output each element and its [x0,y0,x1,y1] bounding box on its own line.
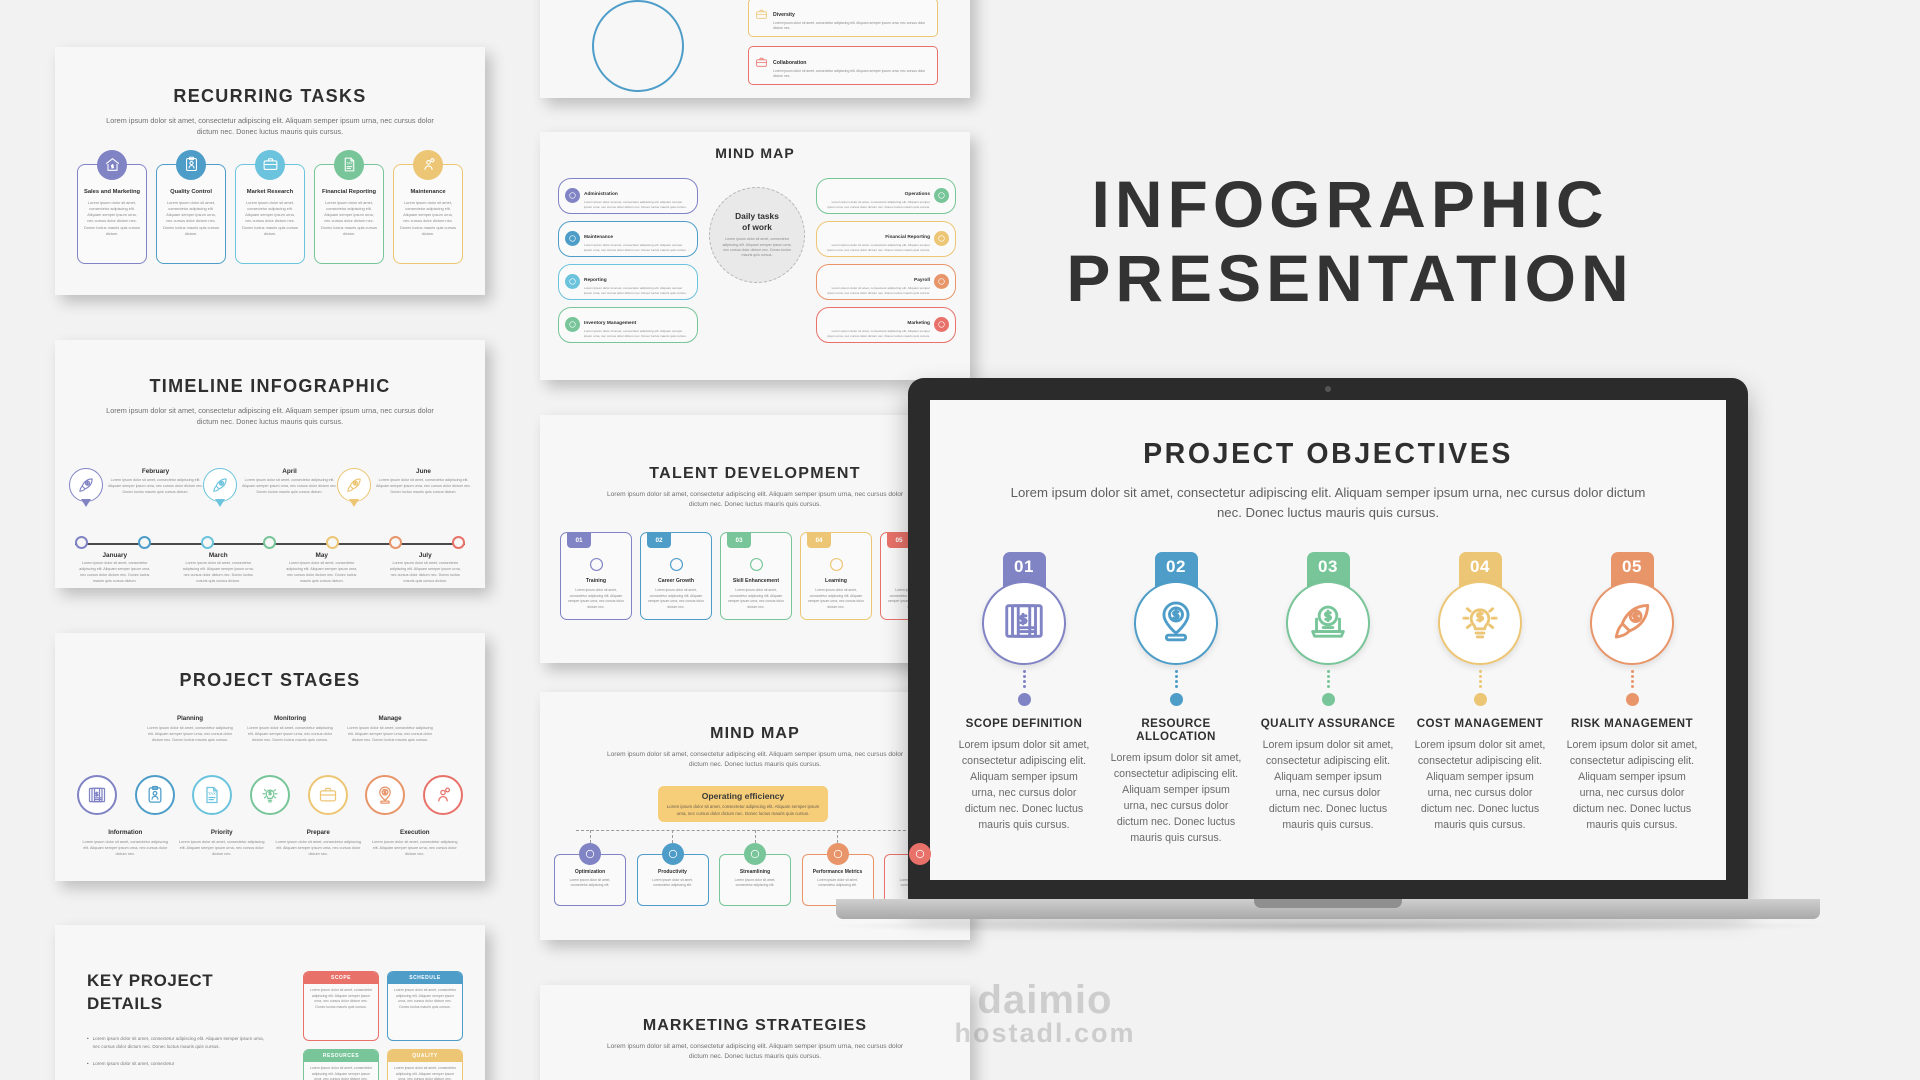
mind-map-node-body: Lorem ipsum dolor sit amet, consectetur … [823,329,930,339]
laptop-icon [801,555,871,574]
slide-thumbnail-recurring-tasks[interactable]: RECURRING TASKS Lorem ipsum dolor sit am… [55,47,485,295]
key-detail-card-body: Lorem ipsum dolor sit amet, consectetur … [304,984,378,1014]
mind-map-2-title: MIND MAP [540,725,970,743]
timeline-month-label: May [316,552,328,559]
mind-map-2-node[interactable]: Optimization Lorem ipsum dolor sit amet,… [554,830,626,906]
talent-card-number: 03 [727,532,751,548]
project-stage-label: Prepare [275,829,362,836]
laptop-shadow [828,918,1828,934]
project-stages-top-labels: PlanningLorem ipsum dolor sit amet, cons… [140,715,440,743]
laptop-mockup: PROJECT OBJECTIVES Lorem ipsum dolor sit… [908,378,1748,938]
objective-column-01[interactable]: 01SCOPE DEFINITIONLorem ipsum dolor sit … [948,552,1100,846]
mind-map-node-label: Maintenance [584,235,613,240]
megaphone-icon [934,317,949,332]
objective-icon-circle-01 [982,581,1066,665]
project-stages-bottom-labels: InformationLorem ipsum dolor sit amet, c… [77,829,463,857]
project-stage-body: Lorem ipsum dolor sit amet, consectetur … [144,725,236,743]
mind-map-2-connector [672,830,673,843]
talent-card-number: 04 [807,532,831,548]
mind-map-2-node-label: Performance Metrics [803,869,873,875]
laptop-trackpad-notch [1254,899,1402,908]
objective-column-04[interactable]: 04COST MANAGEMENTLorem ipsum dolor sit a… [1404,552,1556,846]
settings-person-icon [413,150,443,180]
recurring-task-card[interactable]: Market ResearchLorem ipsum dolor sit ame… [235,164,305,264]
main-slide-columns: 01SCOPE DEFINITIONLorem ipsum dolor sit … [930,552,1726,846]
talent-card[interactable]: 01TrainingLorem ipsum dolor sit amet, co… [560,532,632,620]
mm1-center-title: Daily tasks of work [735,211,779,233]
recurring-task-card[interactable]: Quality ControlLorem ipsum dolor sit ame… [156,164,226,264]
talent-development-subtitle: Lorem ipsum dolor sit amet, consectetur … [605,490,905,510]
top-partial-item-label: Collaboration [773,60,806,66]
board-icon [561,555,631,574]
mind-map-node-label: Marketing [907,321,930,326]
mind-map-node[interactable]: Inventory Management Lorem ipsum dolor s… [558,307,698,343]
objective-column-03[interactable]: 03QUALITY ASSURANCELorem ipsum dolor sit… [1252,552,1404,846]
recurring-task-card-label: Market Research [247,189,293,195]
skill-icon [721,555,791,574]
timeline-month-body: Lorem ipsum dolor sit amet, consectetur … [242,478,337,496]
headline-line-2: PRESENTATION [1040,242,1660,316]
mind-map-node-body: Lorem ipsum dolor sit amet, consectetur … [823,286,930,296]
project-stage-top-item[interactable]: MonitoringLorem ipsum dolor sit amet, co… [240,715,340,743]
recurring-tasks-subtitle: Lorem ipsum dolor sit amet, consectetur … [105,115,435,138]
project-stage-icon-circle [250,775,290,815]
objective-column-05[interactable]: 05RISK MANAGEMENTLorem ipsum dolor sit a… [1556,552,1708,846]
project-stage-label: Monitoring [244,715,336,722]
timeline-month-body: Lorem ipsum dolor sit amet, consectetur … [376,478,471,496]
recurring-task-card[interactable]: TAX Financial ReportingLorem ipsum dolor… [314,164,384,264]
objective-body-02: Lorem ipsum dolor sit amet, consectetur … [1110,751,1242,846]
project-stage-bottom-item[interactable]: ExecutionLorem ipsum dolor sit amet, con… [367,829,464,857]
recurring-task-card-label: Financial Reporting [322,189,376,195]
talent-card-body: Lorem ipsum dolor sit amet, consectetur … [567,588,625,610]
timeline-axis-node [201,536,214,549]
talent-development-card-row: 01TrainingLorem ipsum dolor sit amet, co… [540,532,970,620]
timeline-month-label: February [108,468,203,475]
objective-connector-dots-02 [1175,665,1178,693]
kpd-title-line-2: DETAILS [87,993,213,1016]
svg-text:TAX: TAX [346,162,353,166]
laptop-dollar-icon [1305,598,1351,649]
rocket-dollar-icon [1609,598,1655,649]
timeline-month-body: Lorem ipsum dolor sit amet, consectetur … [78,561,152,585]
talent-card-label: Career Growth [641,578,711,584]
presentation-mockup-canvas: INFOGRAPHIC PRESENTATION RECURRING TASKS… [0,0,1920,1080]
recurring-task-card-body: Lorem ipsum dolor sit amet, consectetur … [400,200,456,238]
timeline-axis-nodes [75,536,465,549]
objective-title-02: RESOURCE ALLOCATION [1100,717,1252,743]
laptop-lid: PROJECT OBJECTIVES Lorem ipsum dolor sit… [908,378,1748,902]
shield-people-icon [755,56,768,74]
timeline-axis-node [75,536,88,549]
key-detail-card-header: SCOPE [304,972,378,984]
recurring-task-card-body: Lorem ipsum dolor sit amet, consectetur … [84,200,140,238]
objective-bullet-dot-05 [1626,693,1639,706]
mind-map-2-node-label: Streamlining [720,869,790,875]
objective-column-02[interactable]: 02RESOURCE ALLOCATIONLorem ipsum dolor s… [1100,552,1252,846]
mind-map-2-node[interactable]: Performance Metrics Lorem ipsum dolor si… [802,830,874,906]
money-icon [934,274,949,289]
timeline-month-body: Lorem ipsum dolor sit amet, consectetur … [388,561,462,585]
key-detail-card[interactable]: RESOURCESLorem ipsum dolor sit amet, con… [303,1049,379,1080]
objective-connector-dots-01 [1023,665,1026,693]
clipboard-person-icon [176,150,206,180]
mind-map-2-node-row: Optimization Lorem ipsum dolor sit amet,… [554,830,956,906]
objective-bullet-dot-04 [1474,693,1487,706]
mm1-center-title-l2: of work [742,222,772,232]
timeline-subtitle: Lorem ipsum dolor sit amet, consectetur … [105,405,435,428]
objective-bullet-dot-02 [1170,693,1183,706]
recurring-task-card[interactable]: Sales and MarketingLorem ipsum dolor sit… [77,164,147,264]
timeline-axis-node [263,536,276,549]
recurring-tasks-title: RECURRING TASKS [55,86,485,107]
top-partial-item-body: Lorem ipsum dolor sit amet, consectetur … [773,21,931,32]
analysis-icon [909,843,931,865]
mind-map-node[interactable]: Administration Lorem ipsum dolor sit ame… [558,178,698,214]
timeline-axis-node [452,536,465,549]
mind-map-node-body: Lorem ipsum dolor sit amet, consectetur … [823,200,930,210]
objective-body-03: Lorem ipsum dolor sit amet, consectetur … [1262,738,1394,833]
timeline-item-top[interactable]: April Lorem ipsum dolor sit amet, consec… [203,468,337,502]
grid-icon [579,843,601,865]
mind-map-node-body: Lorem ipsum dolor sit amet, consectetur … [584,200,691,210]
project-stage-body: Lorem ipsum dolor sit amet, consectetur … [244,725,336,743]
mind-map-node-label: Administration [584,192,618,197]
id-card-icon [565,188,580,203]
mind-map-2-node-body: Lorem ipsum dolor sit amet, consectetur … [726,878,784,889]
mind-map-2-node-body: Lorem ipsum dolor sit amet, consectetur … [644,878,702,889]
timeline-item-bottom[interactable]: MarchLorem ipsum dolor sit amet, consect… [167,552,271,588]
mind-map-node-body: Lorem ipsum dolor sit amet, consectetur … [584,286,691,296]
gear-icon [934,188,949,203]
mind-map-2-node[interactable]: Productivity Lorem ipsum dolor sit amet,… [637,830,709,906]
mind-map-2-node-body: Lorem ipsum dolor sit amet, consectetur … [809,878,867,889]
recurring-task-card-label: Quality Control [170,189,212,195]
objective-icon-circle-04 [1438,581,1522,665]
timeline-axis-node [138,536,151,549]
recurring-task-card[interactable]: MaintenanceLorem ipsum dolor sit amet, c… [393,164,463,264]
talent-card[interactable]: 04LearningLorem ipsum dolor sit amet, co… [800,532,872,620]
project-stage-body: Lorem ipsum dolor sit amet, consectetur … [372,839,459,857]
project-stage-label: Execution [372,829,459,836]
key-detail-card-header: SCHEDULE [388,972,462,984]
key-detail-card-body: Lorem ipsum dolor sit amet, consectetur … [388,1062,462,1080]
timeline-month-body: Lorem ipsum dolor sit amet, consectetur … [181,561,255,585]
recurring-task-card-body: Lorem ipsum dolor sit amet, consectetur … [163,200,219,238]
objective-body-04: Lorem ipsum dolor sit amet, consectetur … [1414,738,1546,833]
growth-icon [641,555,711,574]
mm2-root-body: Lorem ipsum dolor sit amet, consectetur … [666,804,820,817]
mind-map-node-label: Inventory Management [584,321,636,326]
mind-map-node[interactable]: Maintenance Lorem ipsum dolor sit amet, … [558,221,698,257]
project-stage-top-item[interactable]: ManageLorem ipsum dolor sit amet, consec… [340,715,440,743]
project-stage-bottom-item[interactable]: PrepareLorem ipsum dolor sit amet, conse… [270,829,367,857]
top-partial-item[interactable]: CollaborationLorem ipsum dolor sit amet,… [748,46,938,85]
key-detail-bullet: •Lorem ipsum dolor sit amet, consectetur [87,1060,267,1068]
project-stage-icon-circle [308,775,348,815]
project-stages-icon-row: TAX [77,775,463,815]
top-partial-circle [592,0,684,92]
project-stage-body: Lorem ipsum dolor sit amet, consectetur … [82,839,169,857]
timeline-month-label: March [209,552,228,559]
boxes-icon [565,317,580,332]
timeline-item-bottom[interactable]: MayLorem ipsum dolor sit amet, consectet… [270,552,374,588]
presenter-icon [827,843,849,865]
tax-document-icon: TAX [334,150,364,180]
timeline-title: TIMELINE INFOGRAPHIC [55,376,485,397]
mind-map-1-right-items: Operations Lorem ipsum dolor sit amet, c… [816,178,956,350]
talent-development-title: TALENT DEVELOPMENT [540,465,970,483]
project-stage-label: Manage [344,715,436,722]
house-dollar-icon [97,150,127,180]
objective-bullet-dot-01 [1018,693,1031,706]
recurring-task-card-label: Sales and Marketing [84,189,140,195]
mm1-center-title-l1: Daily tasks [735,211,779,221]
mind-map-2-node-label: Optimization [555,869,625,875]
project-stage-body: Lorem ipsum dolor sit amet, consectetur … [344,725,436,743]
slide-thumbnail-timeline-infographic[interactable]: TIMELINE INFOGRAPHIC Lorem ipsum dolor s… [55,340,485,588]
mind-map-2-connector [755,830,756,843]
objective-connector-dots-04 [1479,665,1482,693]
mm2-root-label: Operating efficiency [666,791,820,801]
chart-icon [934,231,949,246]
project-stage-icon-circle [423,775,463,815]
laptop-report-icon [565,274,580,289]
slide-thumbnail-marketing-strategies[interactable]: MARKETING STRATEGIES Lorem ipsum dolor s… [540,985,970,1080]
talent-card-label: Skill Enhancement [721,578,791,584]
mind-map-node-body: Lorem ipsum dolor sit amet, consectetur … [584,329,691,339]
talent-card-number: 01 [567,532,591,548]
mm1-center-body: Lorem ipsum dolor sit amet, consectetur … [720,237,794,259]
objective-body-05: Lorem ipsum dolor sit amet, consectetur … [1566,738,1698,833]
project-stage-bottom-item[interactable]: InformationLorem ipsum dolor sit amet, c… [77,829,174,857]
mind-map-node-body: Lorem ipsum dolor sit amet, consectetur … [823,243,930,253]
mind-map-node-label: Operations [905,192,930,197]
laptop-camera-icon [1325,386,1331,392]
devices-icon [744,843,766,865]
documents-dollar-icon [1001,598,1047,649]
briefcase-icon [255,150,285,180]
slide-thumbnail-mind-map-1[interactable]: MIND MAP Daily tasks of work Lorem ipsum… [540,132,970,380]
page-title: INFOGRAPHIC PRESENTATION [1040,168,1660,316]
slide-thumbnail-key-project-details[interactable]: KEY PROJECT DETAILS •Lorem ipsum dolor s… [55,925,485,1080]
key-detail-card-body: Lorem ipsum dolor sit amet, consectetur … [304,1062,378,1080]
timeline-item-top[interactable]: February Lorem ipsum dolor sit amet, con… [69,468,203,502]
talent-card[interactable]: 02Career GrowthLorem ipsum dolor sit ame… [640,532,712,620]
timeline-axis-node [389,536,402,549]
timeline-item-bottom[interactable]: JulyLorem ipsum dolor sit amet, consecte… [374,552,478,588]
timeline-axis-node [326,536,339,549]
talent-card-body: Lorem ipsum dolor sit amet, consectetur … [727,588,785,610]
timeline-month-label: April [242,468,337,475]
talent-card-label: Learning [801,578,871,584]
mind-map-node[interactable]: Financial Reporting Lorem ipsum dolor si… [816,221,956,257]
recurring-task-card-body: Lorem ipsum dolor sit amet, consectetur … [242,200,298,238]
objective-title-05: RISK MANAGEMENT [1571,717,1693,730]
worker-icon [565,231,580,246]
recurring-tasks-card-row: Sales and MarketingLorem ipsum dolor sit… [55,164,485,264]
objective-connector-dots-03 [1327,665,1330,693]
recurring-task-card-body: Lorem ipsum dolor sit amet, consectetur … [321,200,377,238]
key-detail-card[interactable]: SCOPELorem ipsum dolor sit amet, consect… [303,971,379,1041]
kpd-title-line-1: KEY PROJECT [87,970,213,993]
key-project-details-title: KEY PROJECT DETAILS [87,970,213,1016]
main-slide-subtitle: Lorem ipsum dolor sit amet, consectetur … [1008,483,1648,522]
objective-title-04: COST MANAGEMENT [1417,717,1544,730]
timeline-item-bottom[interactable]: JanuaryLorem ipsum dolor sit amet, conse… [63,552,167,588]
timeline-pin-icon [69,468,103,502]
timeline-pin-icon [203,468,237,502]
top-partial-item[interactable]: DiversityLorem ipsum dolor sit amet, con… [748,0,938,37]
slide-thumbnail-talent-development[interactable]: TALENT DEVELOPMENT Lorem ipsum dolor sit… [540,415,970,663]
objective-title-01: SCOPE DEFINITION [966,717,1083,730]
bullet-dot-icon: • [87,1035,89,1051]
objective-title-03: QUALITY ASSURANCE [1261,717,1396,730]
project-stage-label: Information [82,829,169,836]
talent-card-body: Lorem ipsum dolor sit amet, consectetur … [807,588,865,610]
timeline-bottom-row: JanuaryLorem ipsum dolor sit amet, conse… [63,552,477,588]
mind-map-node[interactable]: Reporting Lorem ipsum dolor sit amet, co… [558,264,698,300]
mind-map-node[interactable]: Operations Lorem ipsum dolor sit amet, c… [816,178,956,214]
project-stages-title: PROJECT STAGES [55,670,485,691]
talent-card-body: Lorem ipsum dolor sit amet, consectetur … [647,588,705,610]
location-pin-dollar-icon [1153,598,1199,649]
mind-map-2-node[interactable]: Streamlining Lorem ipsum dolor sit amet,… [719,830,791,906]
timeline-month-label: January [102,552,127,559]
team-icon [662,843,684,865]
mind-map-node-label: Financial Reporting [885,235,930,240]
timeline-item-top[interactable]: June Lorem ipsum dolor sit amet, consect… [337,468,471,502]
key-detail-bullet: •Lorem ipsum dolor sit amet, consectetur… [87,1035,267,1051]
talent-card-number: 02 [647,532,671,548]
project-stage-bottom-item[interactable]: PriorityLorem ipsum dolor sit amet, cons… [174,829,271,857]
mind-map-2-root-node[interactable]: Operating efficiency Lorem ipsum dolor s… [658,786,828,822]
project-stage-top-item[interactable]: PlanningLorem ipsum dolor sit amet, cons… [140,715,240,743]
timeline-month-body: Lorem ipsum dolor sit amet, consectetur … [108,478,203,496]
mind-map-node[interactable]: Payroll Lorem ipsum dolor sit amet, cons… [816,264,956,300]
top-partial-item-label: Diversity [773,12,795,18]
objective-icon-circle-05 [1590,581,1674,665]
timeline-month-label: June [376,468,471,475]
key-detail-card-body: Lorem ipsum dolor sit amet, consectetur … [388,984,462,1014]
mind-map-node[interactable]: Marketing Lorem ipsum dolor sit amet, co… [816,307,956,343]
main-slide-title: PROJECT OBJECTIVES [930,438,1726,471]
mind-map-2-connector [590,830,591,843]
top-partial-item-body: Lorem ipsum dolor sit amet, consectetur … [773,69,931,80]
mind-map-2-node-label: Productivity [638,869,708,875]
mind-map-node-label: Reporting [584,278,607,283]
project-stage-body: Lorem ipsum dolor sit amet, consectetur … [275,839,362,857]
lightbulb-dollar-icon [1457,598,1503,649]
objective-body-01: Lorem ipsum dolor sit amet, consectetur … [958,738,1090,833]
key-detail-card[interactable]: QUALITYLorem ipsum dolor sit amet, conse… [387,1049,463,1080]
mind-map-node-label: Payroll [914,278,930,283]
key-project-details-cards: SCOPELorem ipsum dolor sit amet, consect… [303,971,463,1080]
marketing-strategies-subtitle: Lorem ipsum dolor sit amet, consectetur … [605,1042,905,1062]
project-stage-icon-circle: TAX [192,775,232,815]
mind-map-node-body: Lorem ipsum dolor sit amet, consectetur … [584,243,691,253]
mind-map-2-connector [837,830,838,843]
slide-thumbnail-project-stages[interactable]: PROJECT STAGES PlanningLorem ipsum dolor… [55,633,485,881]
project-stage-label: Priority [179,829,266,836]
mind-map-1-center-circle: Daily tasks of work Lorem ipsum dolor si… [709,187,805,283]
key-project-details-bullets: •Lorem ipsum dolor sit amet, consectetur… [87,1035,267,1076]
laptop-screen: PROJECT OBJECTIVES Lorem ipsum dolor sit… [930,400,1726,880]
recurring-task-card-label: Maintenance [410,189,445,195]
slide-thumbnail-top-partial[interactable]: DiversityLorem ipsum dolor sit amet, con… [540,0,970,98]
watermark-brand: daimio [978,978,1113,1022]
top-partial-item-list: DiversityLorem ipsum dolor sit amet, con… [748,0,938,94]
talent-card[interactable]: 03Skill EnhancementLorem ipsum dolor sit… [720,532,792,620]
key-detail-card[interactable]: SCHEDULELorem ipsum dolor sit amet, cons… [387,971,463,1041]
timeline-top-row: February Lorem ipsum dolor sit amet, con… [69,468,471,502]
timeline-pin-icon [337,468,371,502]
objective-bullet-dot-03 [1322,693,1335,706]
bullet-dot-icon: • [87,1060,89,1068]
mind-map-2-node-body: Lorem ipsum dolor sit amet, consectetur … [561,878,619,889]
project-stage-body: Lorem ipsum dolor sit amet, consectetur … [179,839,266,857]
marketing-strategies-title: MARKETING STRATEGIES [540,1017,970,1035]
project-stage-icon-circle [135,775,175,815]
key-detail-card-header: RESOURCES [304,1050,378,1062]
project-stage-icon-circle [77,775,117,815]
project-stage-icon-circle [365,775,405,815]
project-stage-label: Planning [144,715,236,722]
timeline-month-label: July [419,552,432,559]
timeline-month-body: Lorem ipsum dolor sit amet, consectetur … [285,561,359,585]
mind-map-2-subtitle: Lorem ipsum dolor sit amet, consectetur … [605,750,905,770]
mind-map-1-left-items: Administration Lorem ipsum dolor sit ame… [558,178,698,350]
objective-icon-circle-02 [1134,581,1218,665]
talent-card-label: Training [561,578,631,584]
shield-star-icon [755,8,768,26]
headline-line-1: INFOGRAPHIC [1040,168,1660,242]
objective-icon-circle-03 [1286,581,1370,665]
svg-text:TAX: TAX [208,791,216,796]
mind-map-1-title: MIND MAP [540,145,970,161]
key-detail-card-header: QUALITY [388,1050,462,1062]
objective-connector-dots-05 [1631,665,1634,693]
